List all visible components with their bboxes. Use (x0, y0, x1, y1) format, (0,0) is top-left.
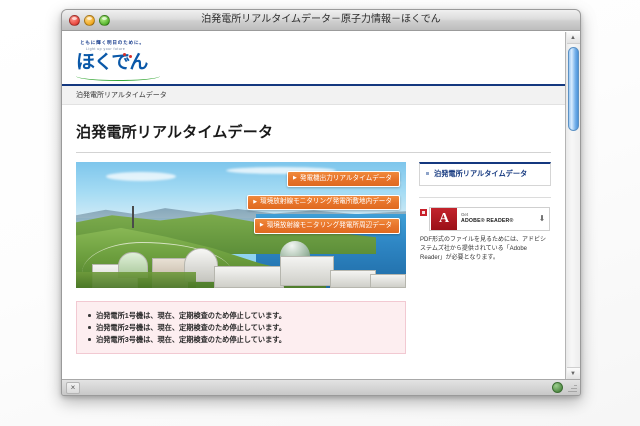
browser-window: 泊発電所リアルタイムデータ－原子力情報－ほくでん ともに輝く明日のために。 Li… (61, 9, 581, 396)
sidebar-nav: 泊発電所リアルタイムデータ (419, 162, 551, 186)
close-window-button[interactable] (69, 15, 80, 26)
link-label: 環境放射線モニタリング発電所敷地内データ (260, 199, 392, 206)
photo-cloud (106, 172, 176, 181)
window-title: 泊発電所リアルタイムデータ－原子力情報－ほくでん (62, 10, 580, 30)
vertical-scrollbar[interactable]: ▲ ▼ (565, 32, 580, 379)
site-logo[interactable]: ほくでん (76, 52, 162, 78)
logo-dot-icon (129, 55, 132, 58)
realtime-data-links: ▶ 発電機出力リアルタイムデータ ▶ 環境放射線モニタリング発電所敷地内データ (247, 171, 400, 234)
window-titlebar[interactable]: 泊発電所リアルタイムデータ－原子力情報－ほくでん (62, 10, 580, 31)
sidebar: 泊発電所リアルタイムデータ A (419, 162, 551, 263)
notice-item: 泊発電所3号機は、現在、定期検査のため停止しています。 (86, 333, 396, 345)
adobe-acrobat-icon: A (431, 208, 457, 230)
scroll-down-arrow-icon[interactable]: ▼ (567, 367, 580, 379)
link-label: 環境放射線モニタリング発電所周辺データ (267, 223, 392, 230)
browser-body: ともに輝く明日のために。 Light up your future ほくでん 泊… (62, 31, 580, 379)
site-tagline-en: Light up your future (86, 47, 565, 51)
adobe-get-label: Get (461, 213, 537, 217)
square-bullet-icon (420, 209, 427, 216)
adobe-product-label: ADOBE® READER® (461, 219, 537, 224)
get-adobe-reader-button[interactable]: A Get ADOBE® READER® ⬇ (429, 207, 550, 231)
sidebar-item-realtime-data[interactable]: 泊発電所リアルタイムデータ (426, 169, 544, 179)
page-title: 泊発電所リアルタイムデータ (76, 121, 551, 142)
sidebar-item-label: 泊発電所リアルタイムデータ (434, 169, 527, 178)
scrollbar-track[interactable] (567, 44, 580, 367)
logo-dot-icon (123, 53, 126, 56)
main-column: ▶ 発電機出力リアルタイムデータ ▶ 環境放射線モニタリング発電所敷地内データ (76, 162, 406, 354)
breadcrumb-current: 泊発電所リアルタイムデータ (76, 92, 167, 99)
notice-item: 泊発電所1号機は、現在、定期検査のため停止しています。 (86, 309, 396, 321)
link-onsite-radiation-data[interactable]: ▶ 環境放射線モニタリング発電所敷地内データ (247, 195, 400, 211)
photo-building (214, 266, 284, 288)
site-logo-text: ほくでん (76, 52, 162, 74)
sidebar-divider (419, 197, 551, 198)
page-viewport: ともに輝く明日のために。 Light up your future ほくでん 泊… (62, 32, 565, 379)
status-notice-box: 泊発電所1号機は、現在、定期検査のため停止しています。 泊発電所2号機は、現在、… (76, 301, 406, 354)
photo-tower (132, 206, 134, 228)
content-columns: ▶ 発電機出力リアルタイムデータ ▶ 環境放射線モニタリング発電所敷地内データ (76, 162, 551, 354)
link-label: 発電機出力リアルタイムデータ (300, 176, 392, 183)
triangle-right-icon: ▶ (293, 176, 297, 181)
resize-grip-icon[interactable] (566, 382, 578, 394)
maximize-window-button[interactable] (99, 15, 110, 26)
adobe-reader-block: A Get ADOBE® READER® ⬇ PDF (419, 207, 551, 263)
title-divider (76, 152, 551, 153)
adobe-reader-badge: A Get ADOBE® READER® ⬇ (420, 207, 550, 231)
triangle-right-icon: ▶ (260, 223, 264, 228)
photo-foreground (76, 272, 196, 288)
status-bar-right (552, 382, 578, 394)
adobe-reader-note: PDF形式のファイルを見るためには、アドビシステムズ社から提供されている「Ado… (420, 236, 550, 263)
desktop-background: 泊発電所リアルタイムデータ－原子力情報－ほくでん ともに輝く明日のために。 Li… (0, 0, 640, 426)
minimize-window-button[interactable] (84, 15, 95, 26)
breadcrumb: 泊発電所リアルタイムデータ (62, 84, 565, 105)
site-tagline-ja: ともに輝く明日のために。 (80, 40, 565, 46)
page-content: 泊発電所リアルタイムデータ (62, 121, 565, 354)
scroll-up-arrow-icon[interactable]: ▲ (567, 32, 580, 44)
download-arrow-icon: ⬇ (537, 214, 549, 223)
triangle-right-icon: ▶ (253, 200, 257, 205)
photo-building (280, 256, 334, 286)
photo-building (370, 274, 406, 288)
web-page: ともに輝く明日のために。 Light up your future ほくでん 泊… (62, 32, 565, 379)
site-header: ともに輝く明日のために。 Light up your future ほくでん (62, 32, 565, 84)
connection-status-icon[interactable] (552, 382, 563, 393)
link-surrounding-radiation-data[interactable]: ▶ 環境放射線モニタリング発電所周辺データ (254, 218, 400, 234)
status-bar: × (62, 379, 580, 395)
plant-photo: ▶ 発電機出力リアルタイムデータ ▶ 環境放射線モニタリング発電所敷地内データ (76, 162, 406, 288)
window-controls (62, 15, 110, 26)
adobe-labels: Get ADOBE® READER® (458, 213, 537, 224)
notice-item: 泊発電所2号機は、現在、定期検査のため停止しています。 (86, 321, 396, 333)
stop-loading-icon[interactable]: × (66, 382, 80, 394)
notice-list: 泊発電所1号機は、現在、定期検査のため停止しています。 泊発電所2号機は、現在、… (86, 309, 396, 346)
link-generator-output-data[interactable]: ▶ 発電機出力リアルタイムデータ (287, 171, 400, 187)
scrollbar-thumb[interactable] (568, 47, 579, 131)
